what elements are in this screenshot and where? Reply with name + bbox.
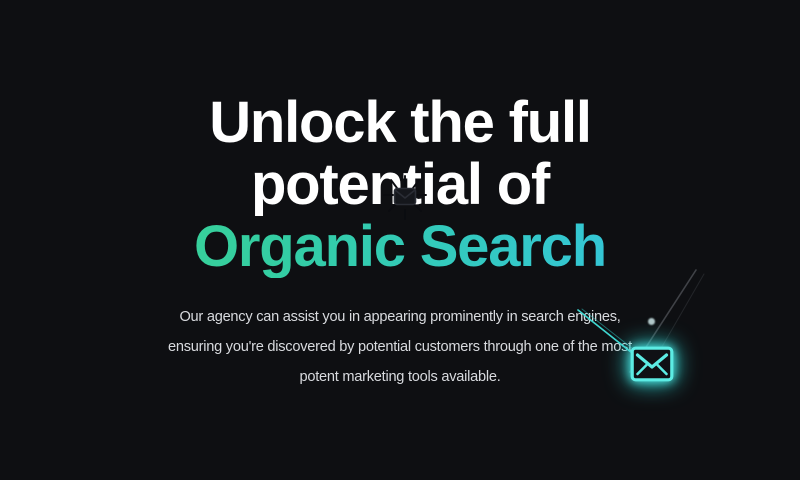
- headline-line-1: Unlock the full: [120, 92, 680, 154]
- subcopy-line-1: Our agency can assist you in appearing p…: [100, 302, 700, 332]
- headline-accent-line: Organic Search: [120, 216, 680, 278]
- hero-subcopy: Our agency can assist you in appearing p…: [100, 302, 700, 392]
- page-title: Unlock the full potential of Organic Sea…: [120, 92, 680, 278]
- hero-section: Unlock the full potential of Organic Sea…: [0, 0, 800, 480]
- subcopy-line-2: ensuring you're discovered by potential …: [100, 332, 700, 362]
- subcopy-line-3: potent marketing tools available.: [100, 362, 700, 392]
- headline-line-2: potential of: [120, 154, 680, 216]
